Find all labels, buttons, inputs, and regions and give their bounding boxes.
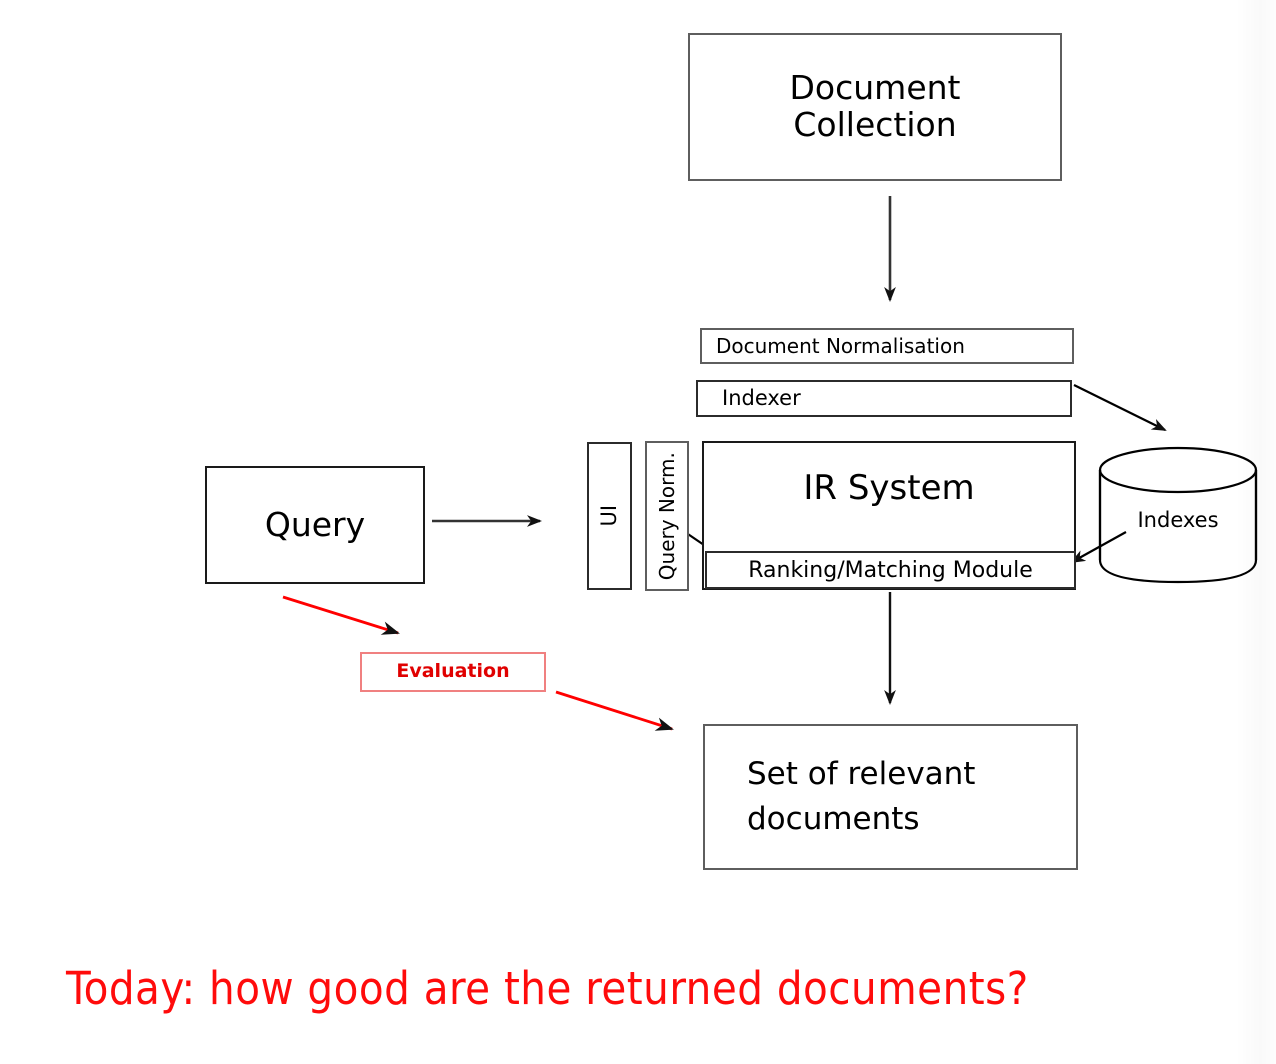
relevant-documents-line2: documents [747, 801, 920, 837]
diagram-connectors [0, 0, 1276, 1064]
node-document-collection[interactable]: Document Collection [688, 33, 1062, 181]
query-normalisation-label: Query Norm. [656, 452, 678, 580]
ir-system-label: IR System [803, 469, 974, 507]
node-document-normalisation[interactable]: Document Normalisation [700, 328, 1074, 364]
query-label: Query [265, 507, 365, 544]
connector-evaluation-to-results [556, 692, 672, 729]
node-evaluation[interactable]: Evaluation [360, 652, 546, 692]
ui-label: UI [598, 505, 622, 527]
slide-caption: Today: how good are the returned documen… [66, 962, 1029, 1015]
node-query[interactable]: Query [205, 466, 425, 584]
indexes-label-text: Indexes [1137, 508, 1218, 532]
connector-query-to-evaluation [283, 597, 398, 633]
relevant-documents-line1: Set of relevant [747, 756, 975, 792]
connector-indexer-to-indexes [1074, 385, 1165, 430]
node-ranking-matching-module[interactable]: Ranking/Matching Module [705, 551, 1076, 589]
node-ui[interactable]: UI [587, 442, 632, 590]
ranking-module-label: Ranking/Matching Module [748, 558, 1033, 583]
node-indexer[interactable]: Indexer [696, 380, 1072, 417]
node-relevant-documents[interactable]: Set of relevant documents [703, 724, 1078, 870]
document-normalisation-label: Document Normalisation [716, 335, 965, 357]
node-query-normalisation[interactable]: Query Norm. [645, 441, 689, 591]
document-collection-line2: Collection [793, 105, 956, 144]
relevant-documents-label: Set of relevant documents [747, 752, 975, 842]
slide-canvas: Document Collection Document Normalisati… [0, 0, 1276, 1064]
document-collection-line1: Document [790, 68, 961, 107]
indexer-label: Indexer [722, 387, 801, 411]
evaluation-label: Evaluation [396, 661, 509, 682]
node-indexes[interactable]: Indexes [1096, 500, 1260, 540]
document-collection-label: Document Collection [790, 70, 961, 144]
